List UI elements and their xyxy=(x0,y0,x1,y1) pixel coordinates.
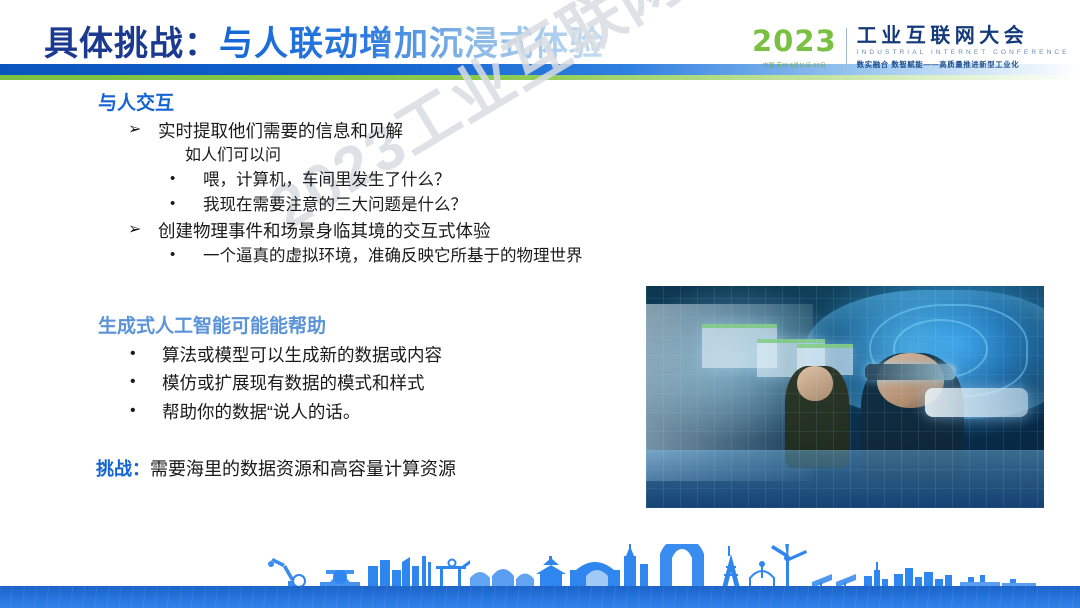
bullet-genai: • 算法或模型可以生成新的数据或内容 xyxy=(130,341,640,369)
logo-year-block: 2023 中国·苏州 5月11日-13日 xyxy=(752,27,846,69)
challenge-label: 挑战： xyxy=(96,459,150,479)
logo-name-en: INDUSTRIAL INTERNET CONFERENCE xyxy=(857,49,1070,56)
bullet-level1-text: 实时提取他们需要的信息和见解 xyxy=(158,118,403,144)
page-title-prefix: 具体挑战： xyxy=(44,25,219,63)
slide-canvas: 具体挑战：与人联动增加沉浸式体验 2023 中国·苏州 5月11日-13日 工业… xyxy=(0,0,1080,608)
bullet-level2: • 我现在需要注意的三大问题是什么？ xyxy=(170,193,640,218)
city-skyline-icon xyxy=(0,544,1080,590)
bullet-genai-text: 帮助你的数据“说人的话。 xyxy=(162,398,360,426)
bullet-level1-subtext: 如人们可以问 xyxy=(185,144,640,168)
photo-grid-overlay xyxy=(646,286,1044,508)
header-green-line xyxy=(0,75,1080,80)
bullet-level2-text: 一个逼真的虚拟环境，准确反映它所基于的物理世界 xyxy=(203,244,583,269)
arrow-bullet-icon: ➢ xyxy=(128,218,158,244)
logo-tagline: 数实融合 数智赋能——高质量推进新型工业化 xyxy=(857,59,1070,70)
dot-bullet-icon: • xyxy=(170,168,203,193)
challenge-text: 需要海里的数据资源和高容量计算资源 xyxy=(150,459,456,479)
dot-bullet-icon: • xyxy=(130,369,162,397)
bullet-level2: • 喂，计算机，车间里发生了什么？ xyxy=(170,168,640,193)
logo-year: 2023 xyxy=(752,27,837,56)
section-spacer xyxy=(0,269,640,313)
bullet-level1: ➢ 实时提取他们需要的信息和见解 xyxy=(128,118,640,144)
bullet-genai: • 帮助你的数据“说人的话。 xyxy=(130,398,640,426)
dot-bullet-icon: • xyxy=(170,244,203,269)
conference-logo: 2023 中国·苏州 5月11日-13日 工业互联网大会 INDUSTRIAL … xyxy=(752,22,1072,74)
bullet-level1-text: 创建物理事件和场景身临其境的交互式体验 xyxy=(158,218,491,244)
bullet-level2-text: 喂，计算机，车间里发生了什么？ xyxy=(203,168,451,193)
page-title-main: 与人联动增加沉浸式体验 xyxy=(219,25,604,63)
dot-bullet-icon: • xyxy=(130,398,162,426)
footer-decoration xyxy=(0,548,1080,608)
slide-body: 与人交互 ➢ 实时提取他们需要的信息和见解 如人们可以问 • 喂，计算机，车间里… xyxy=(0,90,640,483)
logo-name-block: 工业互联网大会 INDUSTRIAL INTERNET CONFERENCE 数… xyxy=(847,26,1070,70)
bullet-level2-text: 我现在需要注意的三大问题是什么？ xyxy=(203,193,467,218)
logo-name-cn: 工业互联网大会 xyxy=(857,26,1070,47)
footer-blue-band xyxy=(0,586,1080,608)
ar-industrial-photo xyxy=(646,286,1044,508)
section-heading-interaction: 与人交互 xyxy=(98,90,640,118)
arrow-bullet-icon: ➢ xyxy=(128,118,158,144)
bullet-level2: • 一个逼真的虚拟环境，准确反映它所基于的物理世界 xyxy=(170,244,640,269)
dot-bullet-icon: • xyxy=(170,193,203,218)
bullet-genai-text: 模仿或扩展现有数据的模式和样式 xyxy=(162,369,425,397)
section-heading-genai: 生成式人工智能可能能帮助 xyxy=(98,313,640,341)
page-title: 具体挑战：与人联动增加沉浸式体验 xyxy=(44,16,604,65)
bullet-genai: • 模仿或扩展现有数据的模式和样式 xyxy=(130,369,640,397)
logo-date: 中国·苏州 5月11日-13日 xyxy=(752,61,837,69)
bullet-level1: ➢ 创建物理事件和场景身临其境的交互式体验 xyxy=(128,218,640,244)
challenge-line: 挑战：需要海里的数据资源和高容量计算资源 xyxy=(96,456,640,483)
dot-bullet-icon: • xyxy=(130,341,162,369)
bullet-genai-text: 算法或模型可以生成新的数据或内容 xyxy=(162,341,442,369)
